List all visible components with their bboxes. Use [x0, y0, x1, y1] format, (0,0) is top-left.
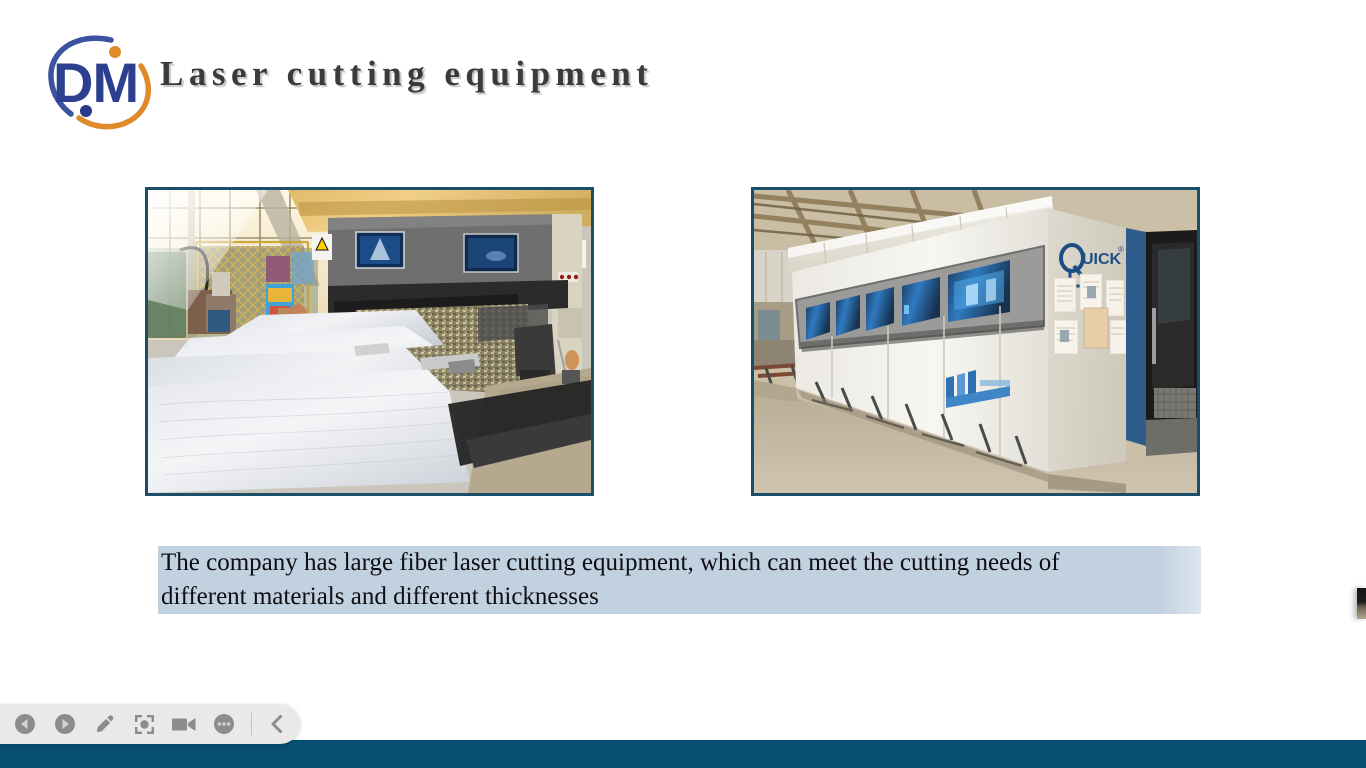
slide-header: DM Laser cutting equipment	[0, 0, 1366, 150]
presenter-toolbar	[0, 704, 300, 744]
laser-pointer-button[interactable]	[128, 707, 162, 741]
caption-line-2: different materials and different thickn…	[158, 580, 1201, 614]
collapse-toolbar-button[interactable]	[260, 707, 294, 741]
ellipsis-icon	[213, 713, 235, 735]
svg-text:UICK: UICK	[1082, 251, 1122, 268]
pen-icon	[93, 712, 117, 736]
caption-line-1: The company has large fiber laser cuttin…	[158, 546, 1201, 580]
slide-caption: The company has large fiber laser cuttin…	[158, 546, 1201, 614]
focus-target-icon	[133, 713, 156, 736]
svg-text:DM: DM	[53, 51, 138, 114]
video-camera-icon	[171, 714, 197, 734]
previous-slide-button[interactable]	[8, 707, 42, 741]
dm-company-logo: DM	[45, 26, 157, 134]
record-button[interactable]	[167, 707, 201, 741]
photo-enclosed-fiber-laser: UICK ®	[751, 187, 1200, 496]
adjacent-slide-edge	[1357, 588, 1366, 619]
next-icon	[54, 713, 76, 735]
page-title: Laser cutting equipment	[160, 56, 653, 91]
more-options-button[interactable]	[207, 707, 241, 741]
previous-icon	[14, 713, 36, 735]
pen-tool-button[interactable]	[88, 707, 122, 741]
slide-canvas: DM Laser cutting equipment	[0, 0, 1366, 740]
svg-text:®: ®	[1118, 245, 1124, 254]
photo-laser-cutting-bed	[145, 187, 594, 496]
chevron-left-icon	[268, 714, 286, 734]
toolbar-separator	[251, 713, 252, 735]
bottom-band	[0, 740, 1366, 768]
next-slide-button[interactable]	[48, 707, 82, 741]
